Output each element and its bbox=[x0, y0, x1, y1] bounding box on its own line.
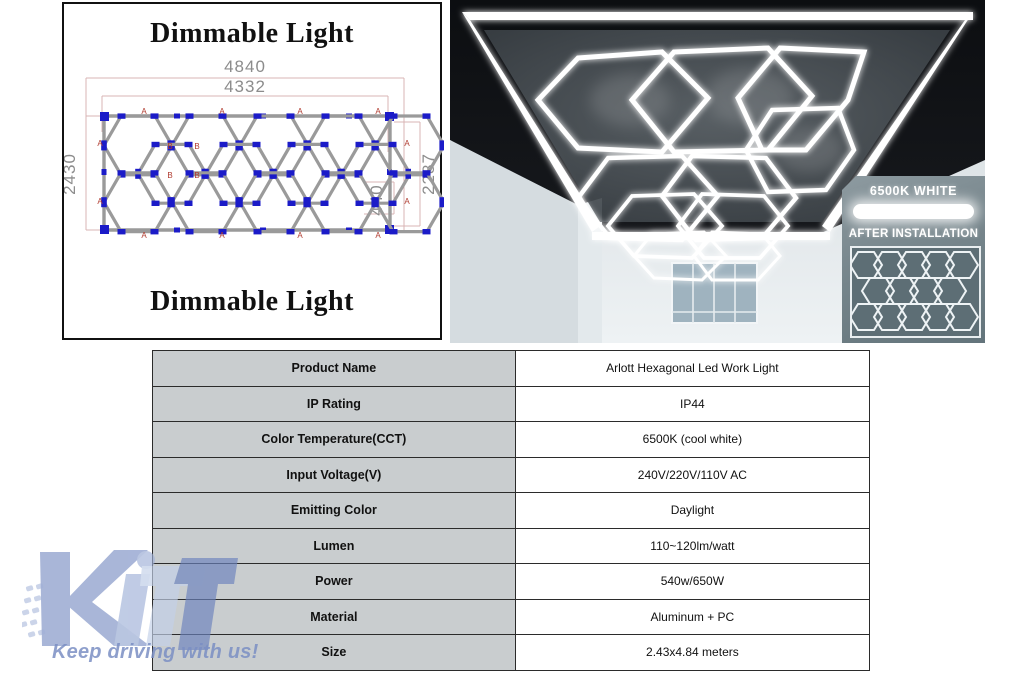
spec-value: 240V/220V/110V AC bbox=[515, 457, 869, 493]
table-row: Product Name Arlott Hexagonal Led Work L… bbox=[153, 351, 870, 387]
spec-key: IP Rating bbox=[153, 386, 516, 422]
specification-table: Product Name Arlott Hexagonal Led Work L… bbox=[152, 350, 870, 671]
spec-key: Emitting Color bbox=[153, 493, 516, 529]
table-row: Lumen 110~120lm/watt bbox=[153, 528, 870, 564]
spec-key: Product Name bbox=[153, 351, 516, 387]
drawing-title-bottom: Dimmable Light bbox=[64, 286, 440, 318]
color-temperature-callout: 6500K WHITE AFTER INSTALLATION bbox=[842, 176, 985, 343]
spec-value: IP44 bbox=[515, 386, 869, 422]
callout-subtitle: AFTER INSTALLATION bbox=[842, 228, 985, 240]
svg-text:A: A bbox=[404, 139, 410, 148]
light-bar-icon bbox=[853, 204, 974, 219]
svg-text:B: B bbox=[194, 171, 199, 180]
svg-text:B: B bbox=[167, 142, 172, 151]
drawing-title-top: Dimmable Light bbox=[64, 18, 440, 50]
svg-text:A: A bbox=[404, 197, 410, 206]
svg-text:B: B bbox=[194, 142, 199, 151]
installation-photo-panel: 6500K WHITE AFTER INSTALLATION bbox=[450, 0, 985, 343]
dim-overall-height: 2430 bbox=[64, 153, 79, 195]
spec-value: Arlott Hexagonal Led Work Light bbox=[515, 351, 869, 387]
spec-key: Material bbox=[153, 599, 516, 635]
hexagon-layout-drawing: 4840 4332 2430 2287 440 bbox=[64, 54, 444, 286]
table-row: Input Voltage(V) 240V/220V/110V AC bbox=[153, 457, 870, 493]
spec-value: 6500K (cool white) bbox=[515, 422, 869, 458]
specification-table-body: Product Name Arlott Hexagonal Led Work L… bbox=[153, 351, 870, 671]
dimension-drawing-panel: Dimmable Light bbox=[62, 2, 442, 340]
table-row: Material Aluminum + PC bbox=[153, 599, 870, 635]
dim-inner-width: 4332 bbox=[224, 77, 266, 96]
callout-title: 6500K WHITE bbox=[842, 184, 985, 198]
svg-text:A: A bbox=[375, 231, 381, 240]
table-row: Color Temperature(CCT) 6500K (cool white… bbox=[153, 422, 870, 458]
spec-key: Input Voltage(V) bbox=[153, 457, 516, 493]
spec-key: Color Temperature(CCT) bbox=[153, 422, 516, 458]
svg-text:A: A bbox=[141, 107, 147, 116]
table-row: Size 2.43x4.84 meters bbox=[153, 635, 870, 671]
kitt-tagline: Keep driving with us! bbox=[52, 641, 258, 664]
spec-key: Power bbox=[153, 564, 516, 600]
table-row: Emitting Color Daylight bbox=[153, 493, 870, 529]
svg-text:A: A bbox=[297, 107, 303, 116]
svg-text:A: A bbox=[141, 231, 147, 240]
svg-text:A: A bbox=[375, 107, 381, 116]
tyre-tread-icon bbox=[22, 583, 46, 638]
dim-overall-width: 4840 bbox=[224, 57, 266, 76]
svg-text:A: A bbox=[97, 139, 103, 148]
svg-text:B: B bbox=[167, 171, 172, 180]
kitt-letter-i bbox=[114, 551, 155, 646]
mini-hexagon-grid-svg bbox=[852, 248, 979, 336]
svg-text:A: A bbox=[219, 107, 225, 116]
spec-value: 2.43x4.84 meters bbox=[515, 635, 869, 671]
spec-value: Aluminum + PC bbox=[515, 599, 869, 635]
svg-text:A: A bbox=[97, 197, 103, 206]
svg-text:A: A bbox=[219, 231, 225, 240]
spec-value: Daylight bbox=[515, 493, 869, 529]
spec-key: Lumen bbox=[153, 528, 516, 564]
table-row: IP Rating IP44 bbox=[153, 386, 870, 422]
svg-text:A: A bbox=[297, 231, 303, 240]
mini-hexagon-grid bbox=[850, 246, 981, 338]
table-row: Power 540w/650W bbox=[153, 564, 870, 600]
spec-value: 110~120lm/watt bbox=[515, 528, 869, 564]
spec-value: 540w/650W bbox=[515, 564, 869, 600]
kitt-letter-k bbox=[40, 550, 150, 646]
